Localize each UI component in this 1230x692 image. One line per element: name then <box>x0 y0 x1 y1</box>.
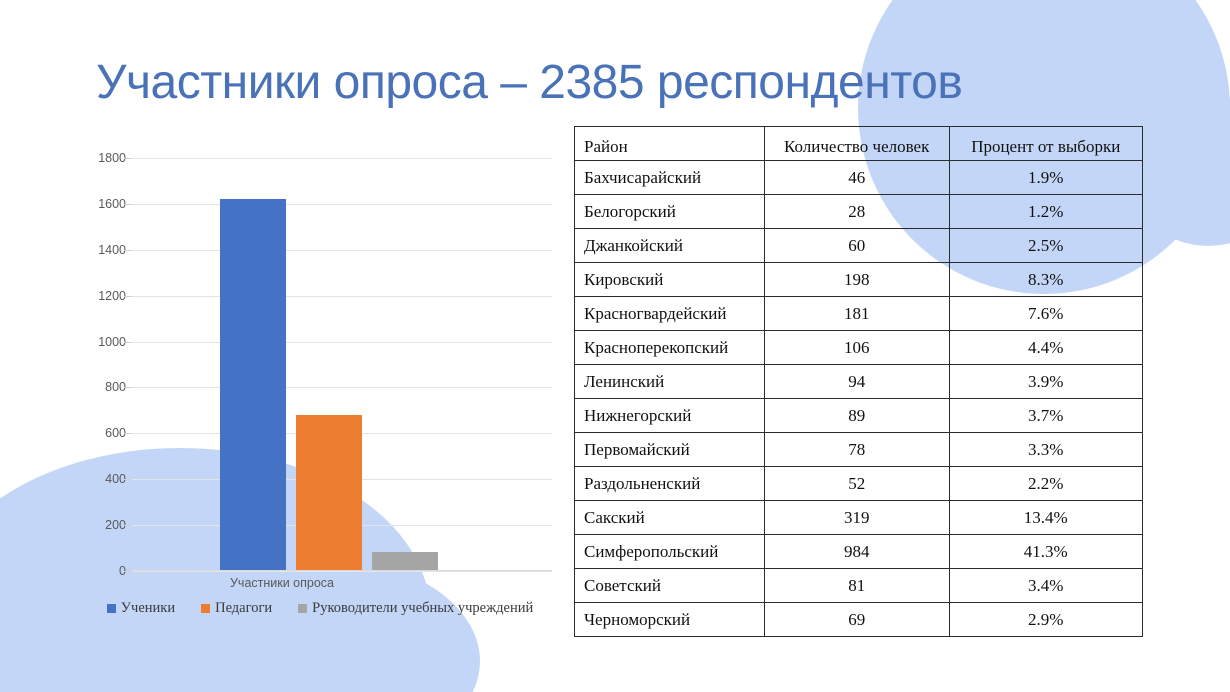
y-axis-tick-label: 0 <box>66 564 126 578</box>
cell-percent: 2.9% <box>949 603 1143 637</box>
y-axis-tick-label: 600 <box>66 426 126 440</box>
y-axis-tick-mark <box>124 525 132 526</box>
column-header-count: Количество человек <box>764 127 949 161</box>
cell-percent: 3.7% <box>949 399 1143 433</box>
table-row: Нижнегорский893.7% <box>575 399 1143 433</box>
cell-district: Белогорский <box>575 195 765 229</box>
column-header-percent: Процент от выборки <box>949 127 1143 161</box>
cell-count: 319 <box>764 501 949 535</box>
cell-percent: 3.3% <box>949 433 1143 467</box>
gridline <box>132 296 552 297</box>
table-row: Симферопольский98441.3% <box>575 535 1143 569</box>
cell-count: 52 <box>764 467 949 501</box>
legend-label: Педагоги <box>215 600 272 617</box>
chart-category-label: Участники опроса <box>132 576 432 590</box>
cell-district: Ленинский <box>575 365 765 399</box>
page-title: Участники опроса – 2385 респондентов <box>96 55 1096 110</box>
cell-district: Черноморский <box>575 603 765 637</box>
cell-district: Бахчисарайский <box>575 161 765 195</box>
cell-district: Джанкойский <box>575 229 765 263</box>
gridline <box>132 204 552 205</box>
cell-district: Симферопольский <box>575 535 765 569</box>
y-axis-tick-label: 800 <box>66 380 126 394</box>
cell-district: Раздольненский <box>575 467 765 501</box>
y-axis-tick-mark <box>124 158 132 159</box>
cell-count: 46 <box>764 161 949 195</box>
table-row: Бахчисарайский461.9% <box>575 161 1143 195</box>
cell-percent: 7.6% <box>949 297 1143 331</box>
table-row: Раздольненский522.2% <box>575 467 1143 501</box>
gridline <box>132 158 552 159</box>
chart-bar-3[interactable] <box>372 552 438 572</box>
cell-count: 28 <box>764 195 949 229</box>
cell-count: 106 <box>764 331 949 365</box>
cell-count: 81 <box>764 569 949 603</box>
cell-district: Красногвардейский <box>575 297 765 331</box>
cell-count: 94 <box>764 365 949 399</box>
cell-percent: 1.9% <box>949 161 1143 195</box>
table-row: Ленинский943.9% <box>575 365 1143 399</box>
cell-count: 78 <box>764 433 949 467</box>
cell-count: 198 <box>764 263 949 297</box>
presentation-slide: Участники опроса – 2385 респондентов 180… <box>0 0 1230 692</box>
gridline <box>132 571 552 572</box>
table-row: Первомайский783.3% <box>575 433 1143 467</box>
y-axis-tick-label: 1000 <box>66 335 126 349</box>
survey-participants-bar-chart: 180016001400120010008006004002000 Участн… <box>70 130 570 600</box>
table-row: Сакский31913.4% <box>575 501 1143 535</box>
cell-district: Советский <box>575 569 765 603</box>
gridline <box>132 250 552 251</box>
y-axis-tick-mark <box>124 296 132 297</box>
y-axis-tick-mark <box>124 571 132 572</box>
cell-district: Красноперекопский <box>575 331 765 365</box>
chart-bar-2[interactable] <box>296 415 362 571</box>
cell-percent: 8.3% <box>949 263 1143 297</box>
y-axis-tick-label: 1200 <box>66 289 126 303</box>
y-axis-tick-mark <box>124 250 132 251</box>
column-header-district: Район <box>575 127 765 161</box>
cell-percent: 2.5% <box>949 229 1143 263</box>
legend-item-1[interactable]: Ученики <box>107 600 175 617</box>
cell-district: Нижнегорский <box>575 399 765 433</box>
table-row: Джанкойский602.5% <box>575 229 1143 263</box>
legend-swatch-icon <box>107 604 116 613</box>
legend-item-3[interactable]: Руководители учебных учреждений <box>298 600 533 617</box>
cell-count: 89 <box>764 399 949 433</box>
y-axis-tick-mark <box>124 342 132 343</box>
cell-percent: 2.2% <box>949 467 1143 501</box>
chart-plot-area <box>132 158 552 571</box>
y-axis-tick-label: 200 <box>66 518 126 532</box>
y-axis-tick-mark <box>124 387 132 388</box>
cell-district: Сакский <box>575 501 765 535</box>
cell-percent: 3.4% <box>949 569 1143 603</box>
legend-label: Руководители учебных учреждений <box>312 600 533 617</box>
cell-count: 181 <box>764 297 949 331</box>
y-axis-tick-mark <box>124 204 132 205</box>
y-axis-tick-mark <box>124 433 132 434</box>
cell-percent: 4.4% <box>949 331 1143 365</box>
y-axis-tick-label: 1400 <box>66 243 126 257</box>
legend-item-2[interactable]: Педагоги <box>201 600 272 617</box>
cell-percent: 41.3% <box>949 535 1143 569</box>
cell-percent: 1.2% <box>949 195 1143 229</box>
table-row: Красноперекопский1064.4% <box>575 331 1143 365</box>
y-axis-tick-mark <box>124 479 132 480</box>
gridline <box>132 342 552 343</box>
cell-count: 984 <box>764 535 949 569</box>
cell-district: Кировский <box>575 263 765 297</box>
table-body: Бахчисарайский461.9%Белогорский281.2%Джа… <box>575 161 1143 637</box>
y-axis-tick-label: 400 <box>66 472 126 486</box>
table-row: Кировский1988.3% <box>575 263 1143 297</box>
legend-swatch-icon <box>298 604 307 613</box>
table-header-row: Район Количество человек Процент от выбо… <box>575 127 1143 161</box>
chart-x-axis-line <box>132 570 552 571</box>
legend-label: Ученики <box>121 600 175 617</box>
cell-district: Первомайский <box>575 433 765 467</box>
table-row: Белогорский281.2% <box>575 195 1143 229</box>
chart-bar-1[interactable] <box>220 199 286 571</box>
y-axis-tick-label: 1800 <box>66 151 126 165</box>
cell-count: 69 <box>764 603 949 637</box>
legend-swatch-icon <box>201 604 210 613</box>
chart-legend: УченикиПедагогиРуководители учебных учре… <box>70 600 570 617</box>
y-axis-tick-label: 1600 <box>66 197 126 211</box>
table-row: Красногвардейский1817.6% <box>575 297 1143 331</box>
gridline <box>132 387 552 388</box>
table-row: Советский813.4% <box>575 569 1143 603</box>
cell-percent: 13.4% <box>949 501 1143 535</box>
district-statistics-table: Район Количество человек Процент от выбо… <box>574 126 1143 637</box>
cell-count: 60 <box>764 229 949 263</box>
table-row: Черноморский692.9% <box>575 603 1143 637</box>
cell-percent: 3.9% <box>949 365 1143 399</box>
